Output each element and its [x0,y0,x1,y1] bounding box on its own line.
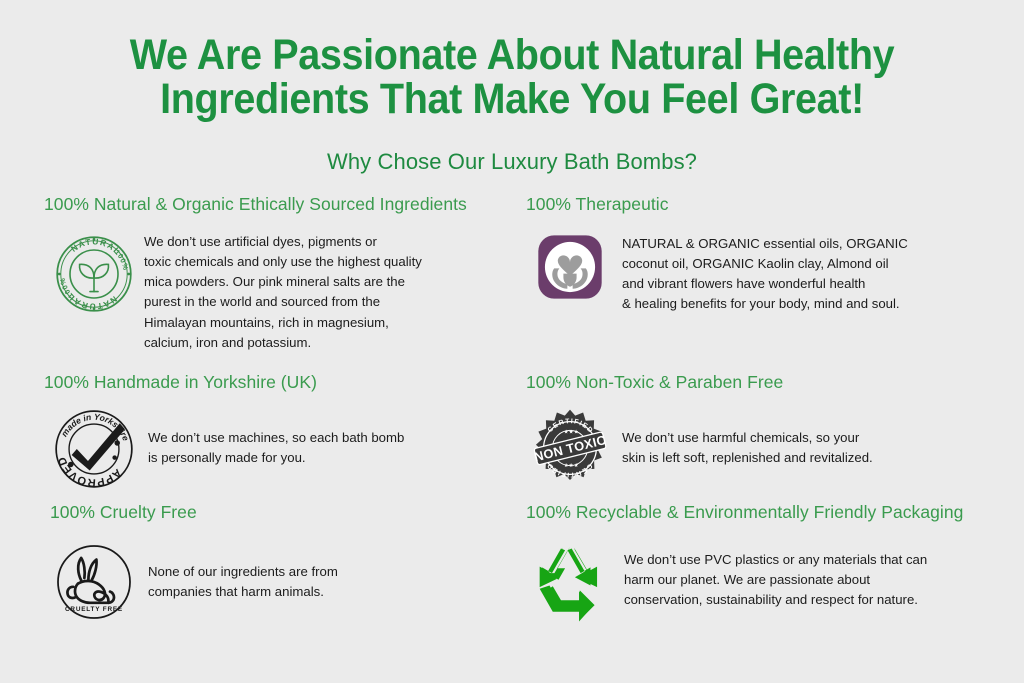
feature-row-3: 100% Cruelty Free [0,504,1024,634]
page-subtitle: Why Chose Our Luxury Bath Bombs? [0,149,1024,175]
feature-title-non-toxic: 100% Non-Toxic & Paraben Free [526,374,544,392]
svg-text:★★★: ★★★ [564,428,579,435]
page-title: We Are Passionate About Natural Healthy … [61,34,963,122]
feature-grid: 100% Natural & Organic Ethically Sourced… [0,196,1024,634]
page-title-line-1: We Are Passionate About Natural Healthy [98,34,926,78]
page-header: We Are Passionate About Natural Healthy … [0,0,1024,175]
feature-title-therapeutic: 100% Therapeutic [526,196,544,214]
certified-non-toxic-badge-icon: CERTIFIED CERTIFIED ★★★ ★★★ N [526,406,614,488]
feature-body-recyclable: We don’t use PVC plastics or any materia… [614,536,927,611]
feature-body-non-toxic: We don’t use harmful chemicals, so your … [614,406,873,469]
feature-non-toxic: 100% Non-Toxic & Paraben Free [0,374,544,504]
feature-title-recyclable: 100% Recyclable & Environmentally Friend… [526,504,544,522]
feature-row-2: 100% Handmade in Yorkshire (UK) made in … [0,374,1024,504]
feature-recyclable: 100% Recyclable & Environmentally Friend… [0,504,544,634]
feature-therapeutic: 100% Therapeutic NATURAL & ORG [0,196,544,374]
page-title-line-2: Ingredients That Make You Feel Great! [98,78,926,122]
recycling-symbol-icon [526,536,614,624]
hands-holding-heart-icon [526,228,614,300]
feature-body-therapeutic: NATURAL & ORGANIC essential oils, ORGANI… [614,228,908,315]
feature-row-1: 100% Natural & Organic Ethically Sourced… [0,196,1024,374]
infographic-page: We Are Passionate About Natural Healthy … [0,0,1024,683]
svg-text:★★★: ★★★ [564,462,579,469]
